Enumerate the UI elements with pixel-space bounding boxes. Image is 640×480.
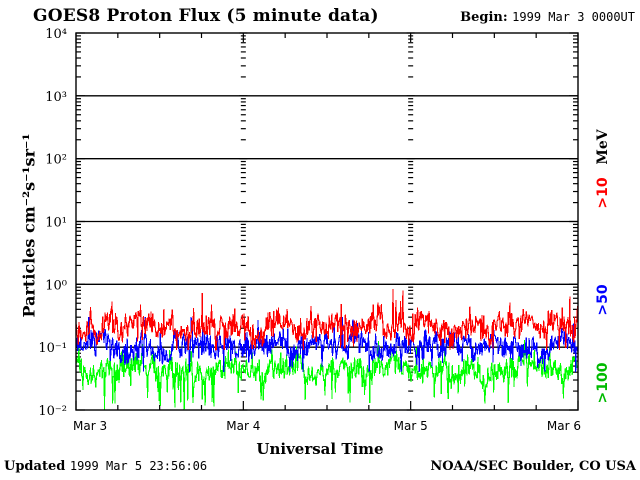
updated-label: Updated [4, 459, 65, 474]
x-tick-label: Mar 5 [394, 419, 428, 433]
x-tick-label: Mar 6 [547, 419, 581, 433]
x-tick-label: Mar 4 [226, 419, 260, 433]
y-tick-label: 10³ [45, 90, 67, 105]
y-tick-label: 10⁴ [45, 27, 67, 42]
x-tick-label: Mar 3 [73, 419, 107, 433]
y-tick-label: 10⁻² [38, 404, 67, 419]
y-tick-label: 10⁻¹ [38, 341, 67, 356]
decade-gridlines [76, 96, 578, 347]
y-tick-label: 10² [45, 153, 67, 168]
legend-item-gt10: >10 [595, 163, 611, 223]
y-tick-label: 10⁰ [45, 278, 67, 293]
legend-item-gt100: >100 [595, 350, 611, 416]
legend-item-gt50: >50 [595, 270, 611, 330]
y-tick-label: 10¹ [45, 216, 67, 231]
footer-credit: NOAA/SEC Boulder, CO USA [430, 459, 636, 474]
data-series-group [76, 289, 578, 410]
x-tick-labels: Mar 3Mar 4Mar 5Mar 6 [73, 419, 581, 433]
plot-canvas: 10⁴10³10²10¹10⁰10⁻¹10⁻² Mar 3Mar 4Mar 5M… [0, 0, 640, 480]
updated-timestamp: 1999 Mar 5 23:56:06 [70, 459, 207, 473]
footer-updated: Updated 1999 Mar 5 23:56:06 [4, 459, 207, 474]
y-tick-labels: 10⁴10³10²10¹10⁰10⁻¹10⁻² [38, 27, 67, 419]
proton-flux-plot: GOES8 Proton Flux (5 minute data) Begin:… [0, 0, 640, 480]
